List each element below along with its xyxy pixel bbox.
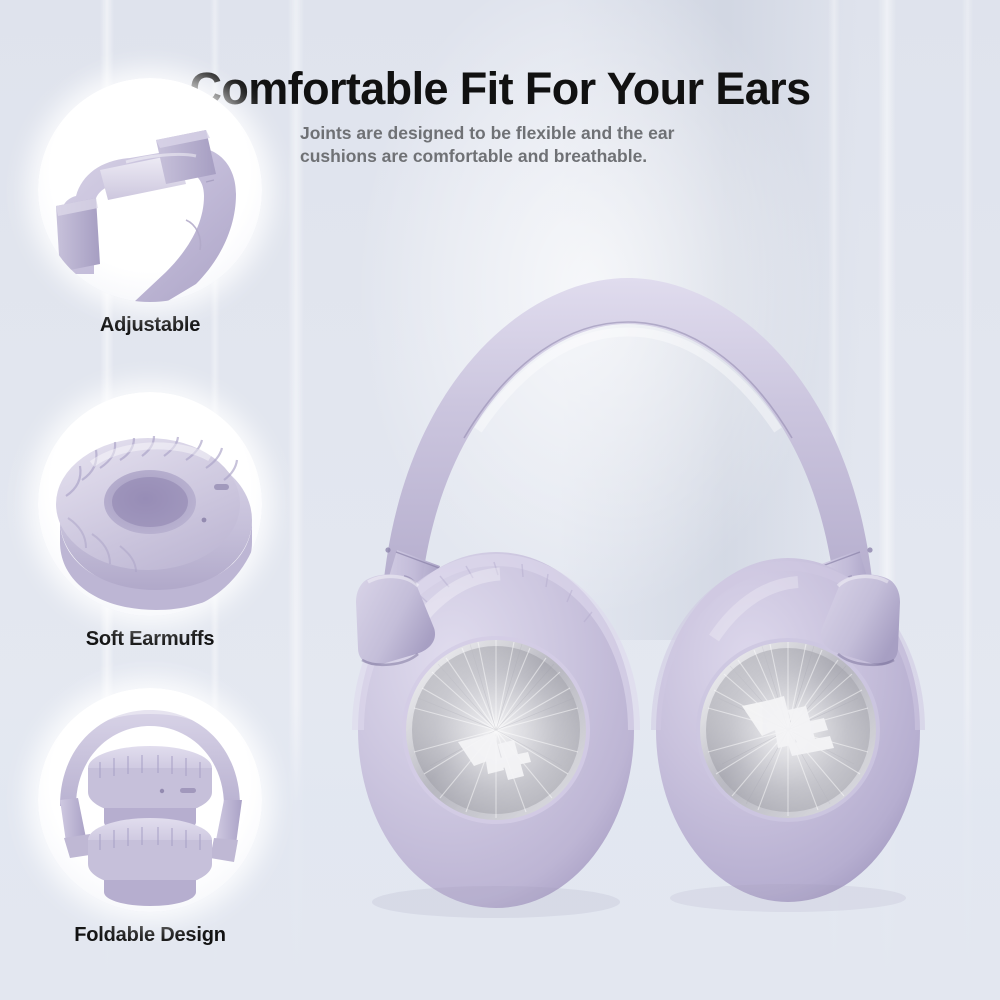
feature-label-soft-earmuffs: Soft Earmuffs xyxy=(38,628,262,651)
page-subtitle: Joints are designed to be flexible and t… xyxy=(300,122,720,169)
feature-item-adjustable: Adjustable xyxy=(38,78,262,337)
feature-label-foldable-design: Foldable Design xyxy=(38,924,262,947)
product-hero-image xyxy=(318,250,938,960)
feature-label-adjustable: Adjustable xyxy=(38,314,262,337)
feature-item-soft-earmuffs: Soft Earmuffs xyxy=(38,392,262,651)
product-feature-poster: Comfortable Fit For Your Ears Joints are… xyxy=(0,0,1000,1000)
headband-slider-closeup-icon xyxy=(38,78,262,302)
over-ear-headphones-illustration xyxy=(318,250,938,960)
feature-thumbnail-soft-earmuffs xyxy=(38,392,262,616)
feature-item-foldable-design: Foldable Design xyxy=(38,688,262,947)
folded-headphones-icon xyxy=(38,688,262,912)
padded-ear-cushion-closeup-icon xyxy=(38,392,262,616)
feature-thumbnail-adjustable xyxy=(38,78,262,302)
feature-thumbnail-foldable-design xyxy=(38,688,262,912)
